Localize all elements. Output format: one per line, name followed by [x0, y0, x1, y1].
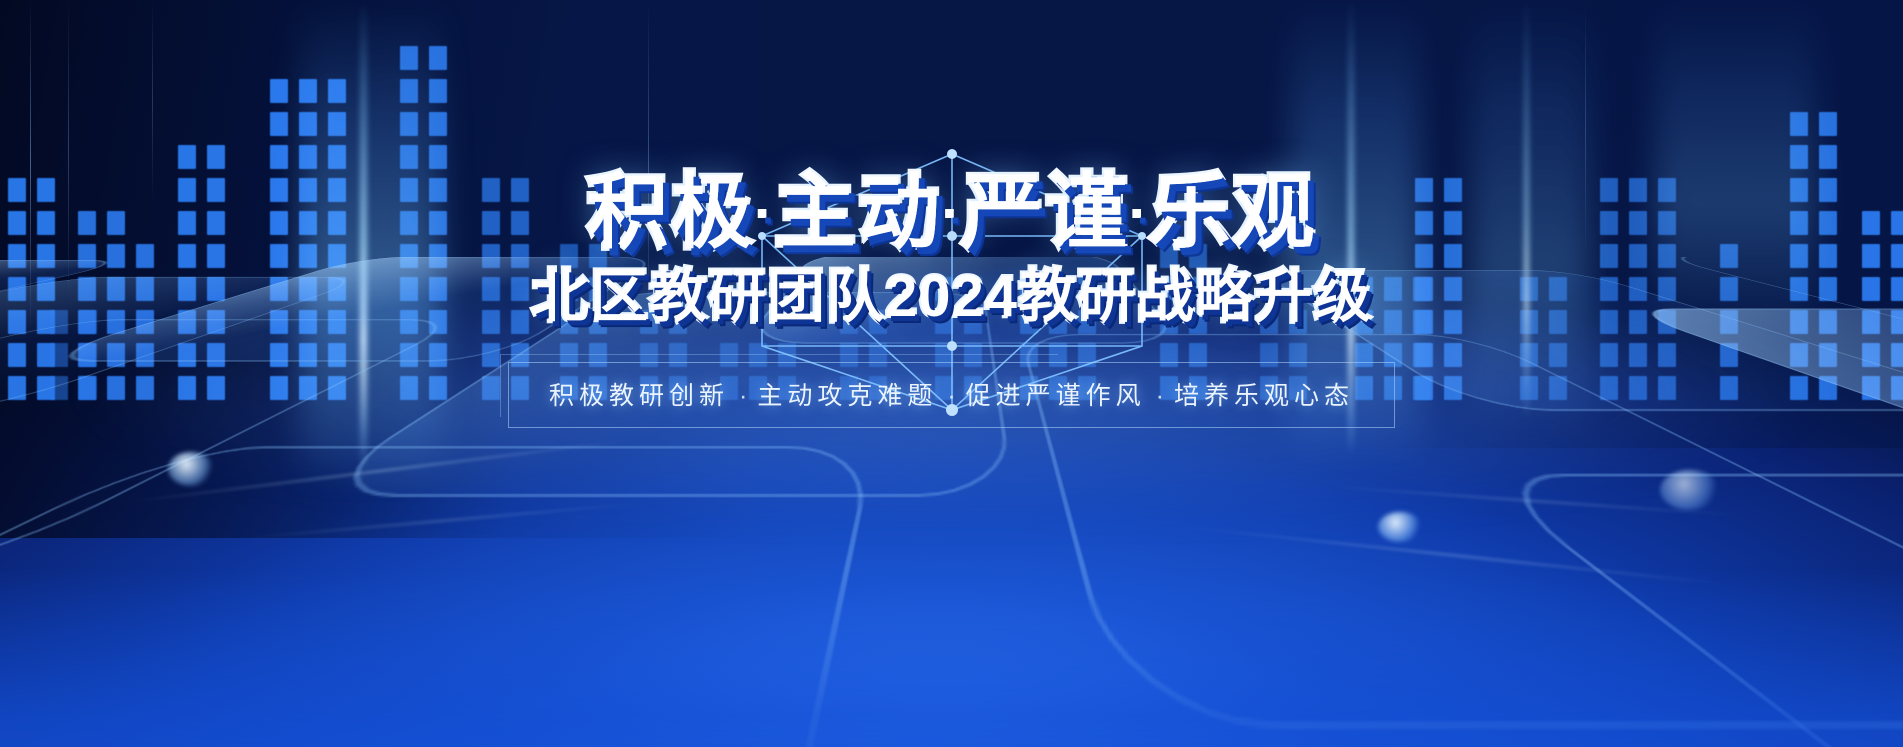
slogan-text: 积极教研创新·主动攻克难题·促进严谨作风·培养乐观心态: [549, 376, 1354, 412]
page-subtitle: 北区教研团队2024教研战略升级: [531, 268, 1372, 326]
slogan-item-3: 促进严谨作风: [966, 382, 1146, 410]
light-orb: [168, 452, 214, 486]
light-orb: [1378, 512, 1422, 542]
headline-separator: ·: [756, 194, 771, 234]
headline-separator: ·: [944, 194, 959, 234]
slogan-item-4: 培养乐观心态: [1174, 382, 1354, 410]
event-banner: 积极·主动·严谨·乐观 北区教研团队2024教研战略升级 积极教研创新·主动攻克…: [0, 0, 1903, 747]
banner-content: 积极·主动·严谨·乐观 北区教研团队2024教研战略升级 积极教研创新·主动攻克…: [0, 0, 1903, 428]
slogan-separator: ·: [739, 382, 747, 410]
headline-word-4: 乐观: [1149, 167, 1317, 258]
slogan-bar: 积极教研创新·主动攻克难题·促进严谨作风·培养乐观心态: [508, 362, 1395, 428]
slogan-item-1: 积极教研创新: [549, 382, 729, 410]
page-title: 积极·主动·严谨·乐观: [586, 172, 1316, 254]
headline-word-2: 主动: [774, 167, 942, 258]
headline-separator: ·: [1131, 194, 1146, 234]
light-orb: [1660, 470, 1720, 510]
floor-fade: [0, 567, 1903, 747]
slogan-separator: ·: [947, 382, 955, 410]
headline-word-1: 积极: [586, 167, 754, 258]
headline-word-3: 严谨: [961, 167, 1129, 258]
slogan-item-2: 主动攻克难题: [757, 382, 937, 410]
slogan-separator: ·: [1156, 382, 1164, 410]
